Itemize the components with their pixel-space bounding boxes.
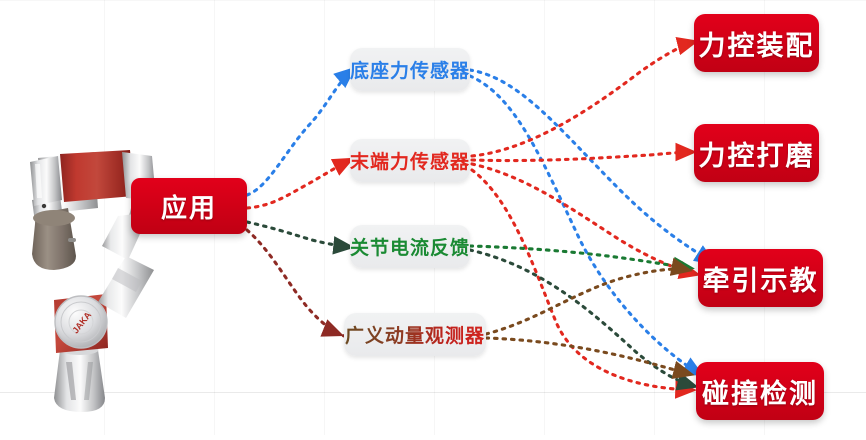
node-collision-detection-label: 碰撞检测	[702, 372, 818, 411]
link-end-sensor-to-hand-guiding	[472, 164, 696, 274]
node-end-force-sensor-label: 末端力传感器	[350, 147, 470, 174]
node-hand-guiding-label: 牵引示教	[703, 259, 819, 298]
link-end-sensor-to-collision-detection	[472, 170, 692, 390]
node-momentum-observer[interactable]: 广义动量观测器	[344, 313, 486, 356]
node-collision-detection[interactable]: 碰撞检测	[696, 362, 824, 420]
link-root-to-momentum-observer	[247, 230, 344, 336]
link-root-to-base-sensor	[247, 70, 352, 195]
node-application-root-label: 应用	[161, 188, 217, 225]
diagram-canvas: JAKA	[0, 0, 866, 435]
node-momentum-observer-label: 广义动量观测器	[345, 321, 485, 348]
link-root-to-current-feedback	[247, 222, 350, 247]
link-current-feedback-to-hand-guiding	[470, 246, 690, 268]
node-joint-current-feedback[interactable]: 关节电流反馈	[350, 225, 470, 268]
node-base-force-sensor[interactable]: 底座力传感器	[350, 48, 470, 91]
node-joint-current-feedback-label: 关节电流反馈	[350, 233, 470, 260]
node-force-polishing[interactable]: 力控打磨	[694, 124, 819, 182]
node-force-assembly-label: 力控装配	[699, 24, 815, 63]
node-base-force-sensor-label: 底座力传感器	[350, 56, 470, 83]
node-end-force-sensor[interactable]: 末端力传感器	[350, 139, 470, 182]
link-momentum-observer-to-hand-guiding	[486, 269, 688, 334]
node-force-assembly[interactable]: 力控装配	[694, 14, 819, 72]
node-hand-guiding[interactable]: 牵引示教	[698, 249, 823, 307]
link-base-sensor-to-hand-guiding	[470, 70, 712, 262]
link-end-sensor-to-force-polishing	[472, 152, 692, 161]
node-force-polishing-label: 力控打磨	[699, 134, 815, 173]
link-end-sensor-to-force-assembly	[472, 42, 694, 156]
node-application-root[interactable]: 应用	[131, 178, 247, 234]
